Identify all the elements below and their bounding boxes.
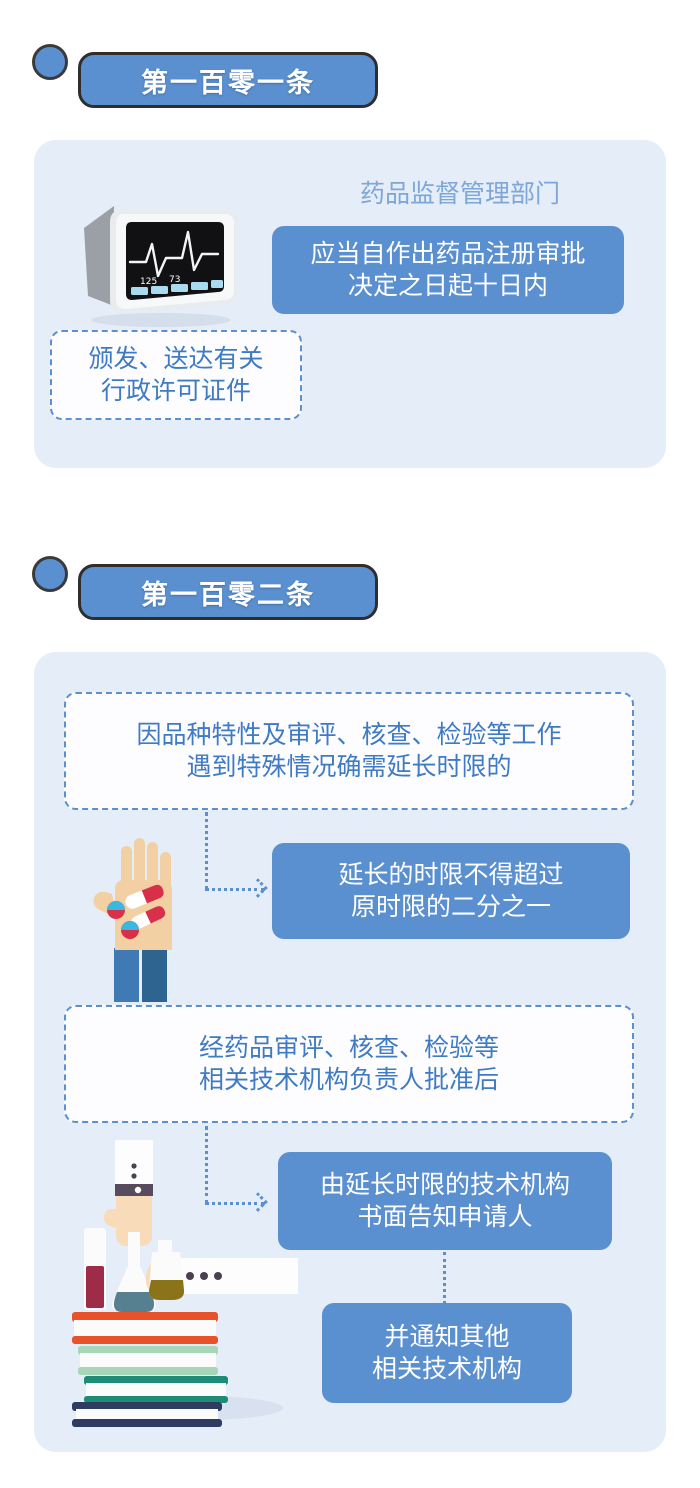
section-title-label-2: 第一百零二条 [141, 573, 315, 612]
infographic-page: 第一百零一条 125 73 药品监督管理部门 应当自作出药品注册审批 决定之日起… [0, 0, 700, 1488]
notify-others-box[interactable]: 并通知其他 相关技术机构 [322, 1303, 572, 1403]
section-title-label-1: 第一百零一条 [141, 61, 315, 100]
special-circumstance-box[interactable]: 因品种特性及审评、核查、检验等工作 遇到特殊情况确需延长时限的 [64, 692, 634, 810]
section-title-pill-2[interactable]: 第一百零二条 [78, 564, 378, 620]
section-title-pill-1[interactable]: 第一百零一条 [78, 52, 378, 108]
drug-admin-department-label: 药品监督管理部门 [310, 178, 610, 210]
hand-with-pills-icon [84, 830, 204, 1002]
connector-1-vertical [205, 812, 208, 890]
svg-text:73: 73 [169, 275, 180, 285]
svg-text:125: 125 [140, 277, 157, 287]
extension-limit-box[interactable]: 延长的时限不得超过 原时限的二分之一 [272, 843, 630, 939]
written-notice-box[interactable]: 由延长时限的技术机构 书面告知申请人 [278, 1152, 612, 1250]
patient-monitor-icon: 125 73 [66, 188, 246, 328]
approval-required-box[interactable]: 经药品审评、核查、检验等 相关技术机构负责人批准后 [64, 1005, 634, 1123]
section-marker-dot [32, 556, 68, 592]
lab-flasks-and-books-icon [60, 1140, 310, 1430]
section-header-1: 第一百零一条 [0, 0, 700, 80]
connector-3-vertical [443, 1252, 446, 1304]
section-header-2: 第一百零二条 [0, 512, 700, 592]
registration-decision-box[interactable]: 应当自作出药品注册审批 决定之日起十日内 [272, 226, 624, 314]
section-marker-dot [32, 44, 68, 80]
connector-2-vertical [205, 1126, 208, 1204]
issue-license-box[interactable]: 颁发、送达有关 行政许可证件 [50, 330, 302, 420]
